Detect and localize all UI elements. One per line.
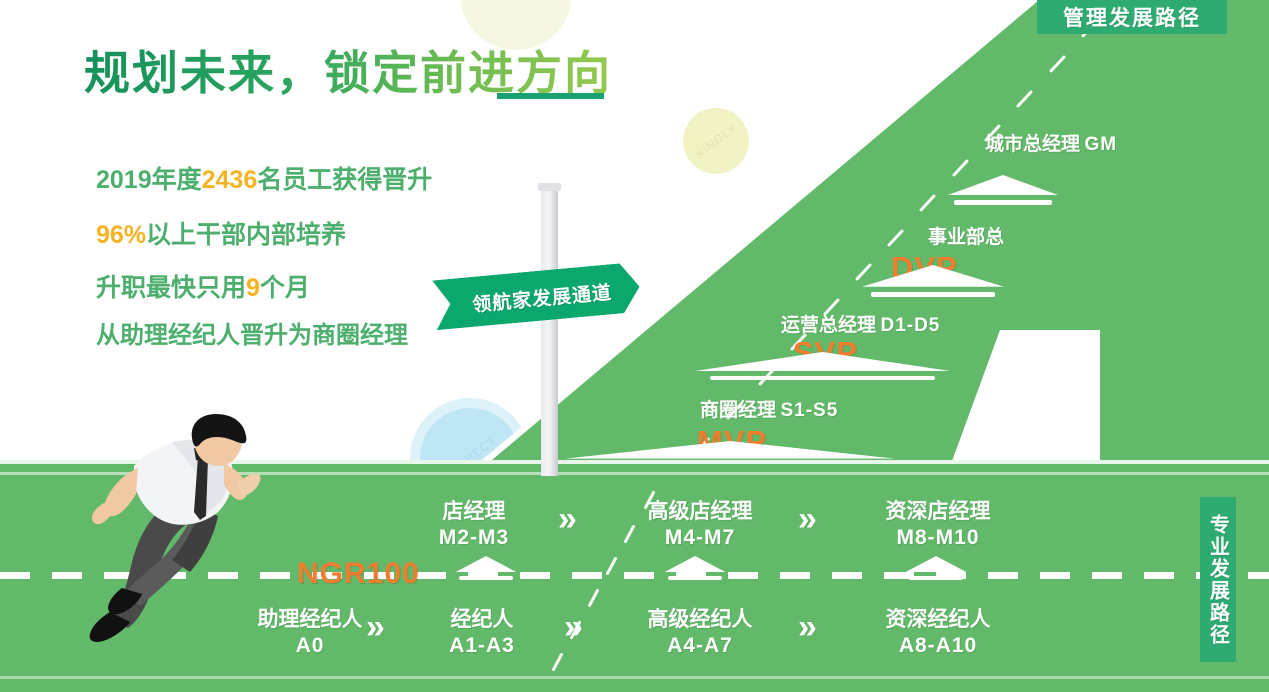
- pro-node-principal-store-manager-code: M8-M10: [862, 525, 1014, 550]
- mgmt-node-svp-title: 运营总经理: [781, 315, 876, 336]
- pro-node-store-manager-code: M2-M3: [414, 525, 534, 550]
- chevron-icon-agt-2: »: [564, 608, 575, 647]
- infographic-canvas: KINDLY ALTRUISM 规划未来，锁定前进方向 2019年度2436名员…: [0, 0, 1269, 692]
- signpost-pole: [541, 186, 558, 476]
- chevron-icon-mgr-2: »: [798, 500, 809, 539]
- decorative-circle-kindly-label: KINDLY: [693, 121, 740, 162]
- pro-node-senior-store-manager: 高级店经理 M4-M7: [627, 500, 773, 550]
- mgmt-node-mvp: 商圈经理 S1-S5: [700, 395, 838, 422]
- pro-node-agent: 经纪人 A1-A3: [431, 608, 533, 658]
- professional-road-bottom-edge: [0, 676, 1269, 679]
- chevron-icon-agt-1: »: [366, 608, 377, 647]
- bullet1-part-0: 96%: [96, 221, 146, 249]
- running-businessman-illustration: [72, 412, 272, 642]
- management-path-badge-label: 管理发展路径: [1063, 2, 1201, 32]
- pro-node-senior-agent-code: A4-A7: [627, 633, 773, 658]
- pro-node-store-manager-title: 店经理: [414, 500, 534, 525]
- mgmt-node-mvp-code: S1-S5: [780, 400, 838, 421]
- bullet3-part-0: 从助理经纪人晋升为商圈经理: [96, 322, 408, 349]
- bullet0-part-0: 2019年度: [96, 166, 202, 194]
- milestone-arch-icon-m4: [664, 556, 726, 580]
- mgmt-node-dvp-title: 事业部总: [928, 227, 1004, 248]
- stat-line-promotions: 2019年度2436名员工获得晋升: [96, 160, 432, 196]
- bullet0-part-2: 名员工获得晋升: [257, 166, 432, 194]
- professional-path-badge-label: 专业发展路径: [1204, 514, 1233, 646]
- stat-line-career-example: 从助理经纪人晋升为商圈经理: [96, 315, 408, 350]
- mgmt-node-gm: 城市总经理 GM: [985, 129, 1117, 156]
- stat-line-internal-training: 96%以上干部内部培养: [96, 215, 346, 251]
- mgmt-node-gm-title: 城市总经理: [985, 134, 1080, 155]
- signpost-pole-cap: [538, 183, 561, 191]
- bullet1-part-1: 以上干部内部培养: [146, 221, 346, 249]
- milestone-arch-icon-m8: [905, 556, 967, 580]
- mgmt-node-svp-code: D1-D5: [880, 315, 940, 336]
- pro-node-senior-store-manager-title: 高级店经理: [627, 500, 773, 525]
- milestone-arch-icon-m2: [455, 556, 517, 580]
- pro-node-principal-agent-code: A8-A10: [862, 633, 1014, 658]
- mgmt-node-dvp: 事业部总: [928, 222, 1004, 249]
- mgmt-node-svp: 运营总经理 D1-D5: [781, 310, 940, 337]
- decorative-circle-kindly: KINDLY: [683, 108, 749, 174]
- milestone-arch-icon-dvp: [862, 265, 1004, 297]
- mgmt-node-mvp-title: 商圈经理: [700, 400, 776, 421]
- pro-node-store-manager: 店经理 M2-M3: [414, 500, 534, 550]
- milestone-arch-icon-gm: [947, 175, 1059, 205]
- pro-node-principal-agent: 资深经纪人 A8-A10: [862, 608, 1014, 658]
- title-underline: [497, 93, 604, 99]
- pro-node-principal-store-manager-title: 资深店经理: [862, 500, 1014, 525]
- pro-node-senior-agent: 高级经纪人 A4-A7: [627, 608, 773, 658]
- bullet0-part-1: 2436: [202, 166, 258, 194]
- pro-node-principal-store-manager: 资深店经理 M8-M10: [862, 500, 1014, 550]
- milestone-arch-icon-svp: [695, 352, 950, 380]
- pro-node-senior-store-manager-code: M4-M7: [627, 525, 773, 550]
- pro-node-agent-title: 经纪人: [431, 608, 533, 633]
- pro-node-senior-agent-title: 高级经纪人: [627, 608, 773, 633]
- stat-line-fastest-promotion: 升职最快只用9个月: [96, 268, 310, 304]
- chevron-icon-mgr-1: »: [558, 500, 569, 539]
- management-path-badge: 管理发展路径: [1037, 0, 1227, 34]
- mgmt-node-gm-code: GM: [1084, 134, 1117, 155]
- pro-node-principal-agent-title: 资深经纪人: [862, 608, 1014, 633]
- ngr100-badge: NGR100: [297, 557, 420, 591]
- professional-path-badge: 专业发展路径: [1200, 497, 1236, 662]
- bullet2-part-0: 升职最快只用: [96, 274, 246, 302]
- pro-node-agent-code: A1-A3: [431, 633, 533, 658]
- bullet2-part-2: 个月: [260, 274, 310, 302]
- bullet2-part-1: 9: [246, 274, 260, 302]
- chevron-icon-agt-3: »: [798, 608, 809, 647]
